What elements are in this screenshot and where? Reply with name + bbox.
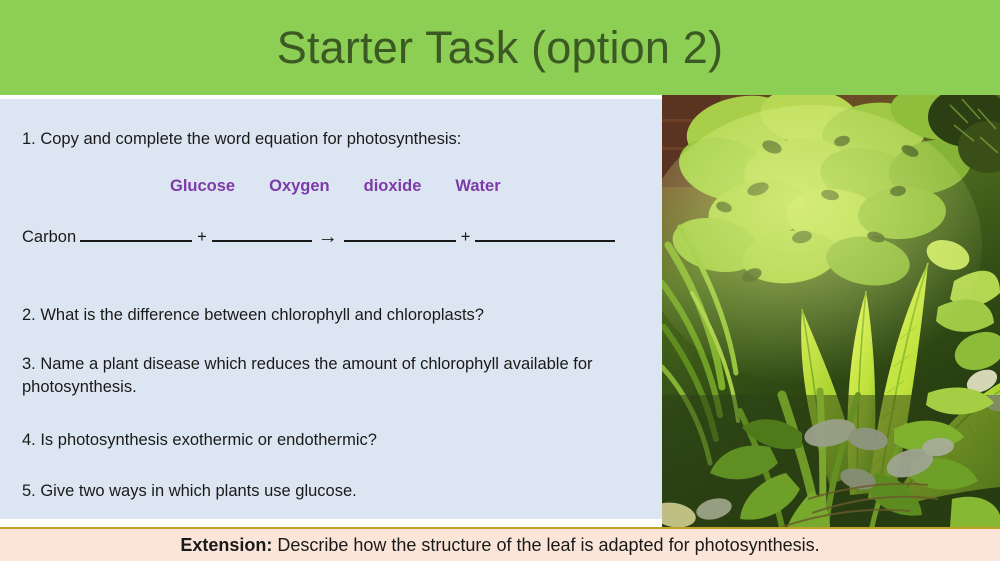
title-banner: Starter Task (option 2) [0,0,1000,95]
page-title: Starter Task (option 2) [277,25,723,70]
content-inner: 1. Copy and complete the word equation f… [22,99,642,519]
word-bank-item-glucose: Glucose [170,177,235,196]
word-bank: Glucose Oxygen dioxide Water [170,177,501,196]
equation-plus-2: + [461,228,471,247]
word-bank-item-water: Water [455,177,500,196]
content-panel: 1. Copy and complete the word equation f… [0,99,662,519]
question-3: 3. Name a plant disease which reduces th… [22,353,602,400]
equation-blank-2 [212,225,312,242]
foliage-photo [662,95,1000,527]
equation-blank-4 [475,225,615,242]
equation-blank-3 [344,225,456,242]
extension-bar: Extension: Describe how the structure of… [0,527,1000,561]
equation-blank-1 [80,225,192,242]
question-2: 2. What is the difference between chloro… [22,304,622,327]
extension-body: Describe how the structure of the leaf i… [272,535,819,555]
extension-label: Extension: [180,535,272,555]
slide: Starter Task (option 2) 1. Copy and comp… [0,0,1000,561]
equation-first-word: Carbon [22,228,76,247]
word-equation: Carbon + → + [22,225,615,247]
word-bank-item-oxygen: Oxygen [269,177,330,196]
foliage-photo-graphic [662,95,1000,527]
question-5: 5. Give two ways in which plants use glu… [22,480,622,503]
equation-plus-1: + [197,228,207,247]
extension-text: Extension: Describe how the structure of… [180,536,819,554]
arrow-right-icon: → [318,227,338,247]
word-bank-item-dioxide: dioxide [364,177,422,196]
question-1: 1. Copy and complete the word equation f… [22,128,622,151]
question-4: 4. Is photosynthesis exothermic or endot… [22,429,622,452]
